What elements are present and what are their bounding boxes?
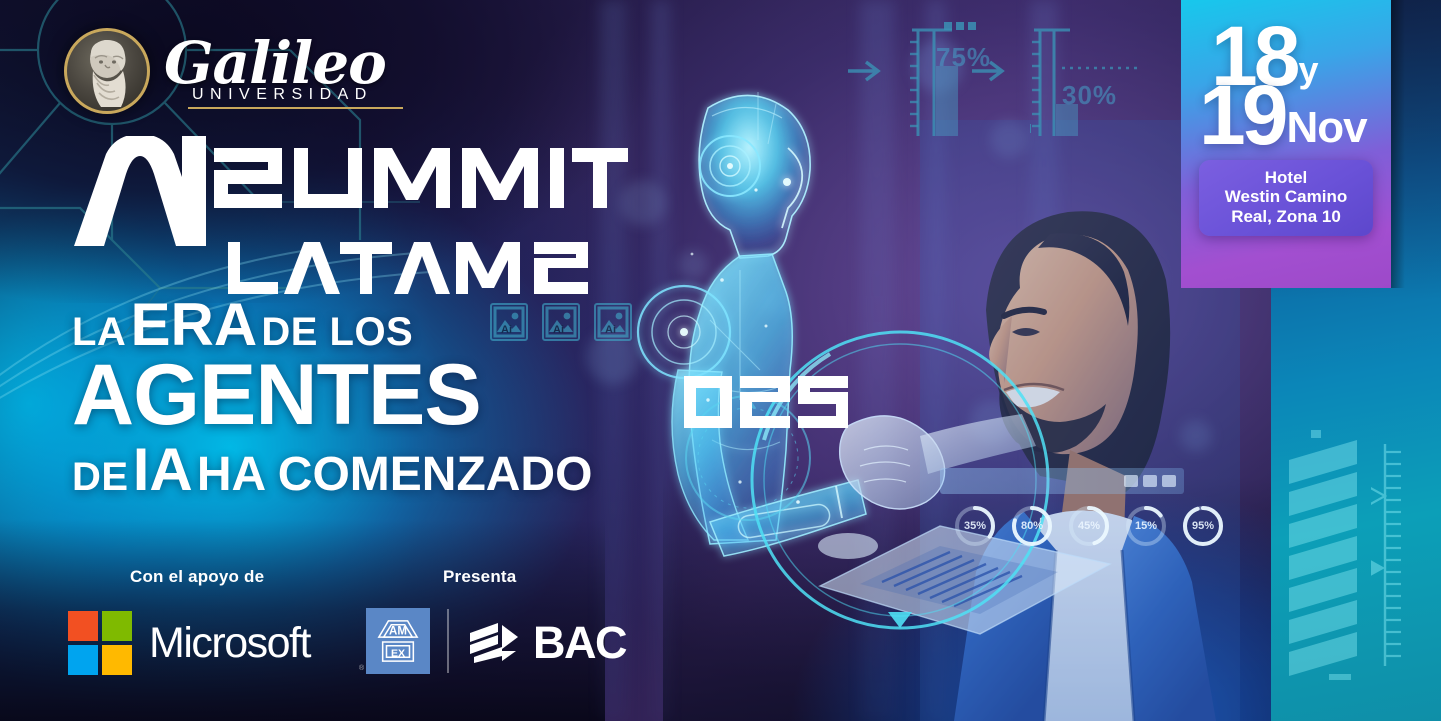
hud-ui-bar	[940, 468, 1184, 494]
presents-label: Presenta	[443, 567, 516, 587]
venue-line-3: Real, Zona 10	[1205, 207, 1367, 227]
hud-meter-4-label: 95%	[1180, 503, 1226, 549]
tagline-ia: IA	[133, 441, 193, 498]
venue-line-1: Hotel	[1205, 168, 1367, 188]
tagline-era: ERA	[130, 296, 257, 353]
hud-meter-0: 35%	[952, 503, 998, 549]
galileo-gold-rule	[188, 107, 403, 109]
microsoft-logo[interactable]: Microsoft	[68, 611, 310, 675]
tagline-la: LA	[72, 313, 126, 351]
tagline-agentes: AGENTES	[72, 355, 481, 437]
galileo-bust-medallion	[64, 28, 150, 114]
event-title-block	[74, 136, 630, 296]
date-day-2: 19	[1199, 81, 1284, 150]
tagline-de: DE	[72, 458, 129, 496]
hud-meter-3: 15%	[1123, 503, 1169, 549]
galileo-wordmark: Galileo UNIVERSIDAD	[164, 33, 403, 109]
venue-badge: Hotel Westin Camino Real, Zona 10	[1199, 160, 1373, 236]
ruler-scale-decoration	[1371, 440, 1411, 670]
hud-meters-row: 35% 80% 45% 15	[952, 503, 1226, 549]
hud-meter-1: 80%	[1009, 503, 1055, 549]
tagline-line-3: DE IA HA COMENZADO	[72, 441, 592, 498]
hud-meter-3-label: 15%	[1123, 503, 1169, 549]
amex-logo[interactable]: AM EX ®	[366, 608, 430, 674]
hud-meter-1-label: 80%	[1009, 503, 1055, 549]
sponsor-logos: Microsoft AM EX ®	[0, 611, 640, 681]
event-dates: 18 y 19 Nov	[1181, 22, 1391, 150]
ai-image-icons-row: Ai Ai Ai	[490, 303, 632, 341]
svg-text:Ai: Ai	[501, 324, 512, 336]
ai-image-icon-2: Ai	[594, 303, 632, 341]
bac-wordmark: BAC	[533, 620, 626, 665]
amex-logomark: AM EX	[375, 616, 421, 666]
svg-text:Ai: Ai	[605, 324, 616, 336]
tagline-de-los: DE LOS	[261, 313, 413, 351]
support-label: Con el apoyo de	[130, 567, 264, 587]
bac-logo[interactable]: BAC	[468, 619, 626, 665]
microsoft-squares-icon	[68, 611, 132, 675]
sponsors-section: Con el apoyo de Presenta Microsoft	[0, 567, 640, 681]
tagline-line-2: AGENTES	[72, 355, 592, 437]
galileo-script-text: Galileo	[164, 37, 403, 90]
bac-logomark	[468, 619, 522, 665]
date-month: Nov	[1284, 110, 1366, 150]
summit-wordmark	[210, 140, 630, 216]
microsoft-wordmark: Microsoft	[149, 622, 310, 665]
galileo-university-logo[interactable]: Galileo UNIVERSIDAD	[64, 28, 403, 114]
galileo-universidad-text: UNIVERSIDAD	[164, 86, 403, 104]
svg-text:Ai: Ai	[553, 324, 564, 336]
hud-ui-bar-dots	[1124, 475, 1176, 487]
date-panel-shadow	[1389, 0, 1405, 288]
ai-image-icon-0: Ai	[490, 303, 528, 341]
hud-gauge-30-label: 30%	[1062, 80, 1117, 111]
date-conjunction: y	[1296, 55, 1318, 91]
ai-summit-banner: 75% 30%	[0, 0, 1441, 721]
hud-arrow-left-1	[848, 58, 896, 84]
hud-arrow-left-2	[972, 58, 1020, 84]
sponsor-labels: Con el apoyo de Presenta	[0, 567, 640, 589]
diagonal-stripes-decoration	[1285, 430, 1385, 680]
sponsor-divider	[447, 609, 449, 673]
venue-line-2: Westin Camino	[1205, 187, 1367, 207]
date-panel: 18 y 19 Nov Hotel Westin Camino Real, Zo…	[1181, 0, 1391, 288]
hud-gauge-30: 30%	[1030, 18, 1190, 145]
svg-text:AM: AM	[389, 625, 407, 637]
hud-meter-2-label: 45%	[1066, 503, 1112, 549]
hero-imagery: 75% 30%	[560, 0, 1260, 721]
tagline-ha-comenzado: HA COMENZADO	[197, 452, 593, 498]
svg-text:EX: EX	[391, 647, 405, 659]
hud-meter-2: 45%	[1066, 503, 1112, 549]
latam-year-wordmark	[226, 238, 630, 296]
ai-logomark	[74, 136, 206, 248]
hud-meter-0-label: 35%	[952, 503, 998, 549]
hud-meter-4: 95%	[1180, 503, 1226, 549]
amex-registered-mark: ®	[359, 665, 364, 672]
ai-image-icon-1: Ai	[542, 303, 580, 341]
